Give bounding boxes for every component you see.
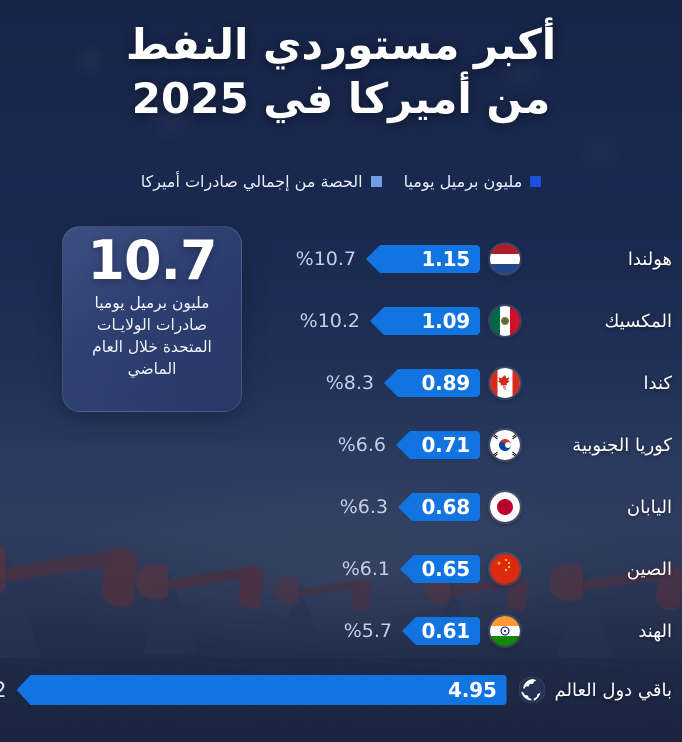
- row-percent-label: %6.6: [338, 434, 386, 456]
- row-label: كندا: [520, 373, 672, 394]
- bar-container: 0.65: [400, 555, 480, 583]
- bar-fill: 0.89: [384, 369, 480, 397]
- row-label: كوريا الجنوبية: [520, 435, 672, 456]
- bar-container: 1.15: [366, 245, 480, 273]
- bar-container: 0.68: [398, 493, 480, 521]
- row-percent-label: %8.3: [326, 372, 374, 394]
- row-percent-label: %6.1: [342, 558, 390, 580]
- infographic-poster: أكبر مستوردي النفط من أميركا في 2025 ملي…: [0, 0, 682, 742]
- page-title: أكبر مستوردي النفط من أميركا في 2025: [0, 18, 682, 126]
- row-label: هولندا: [520, 249, 672, 270]
- bar-value-label: 1.15: [421, 247, 470, 271]
- flag-japan: [490, 492, 520, 522]
- bar-container: 0.61: [402, 617, 480, 645]
- title-line-1: أكبر مستوردي النفط: [0, 18, 682, 72]
- table-row: كوريا الجنوبية0.71%6.6: [0, 414, 682, 476]
- legend-swatch-dark: [530, 176, 541, 187]
- bar-fill: 0.71: [396, 431, 480, 459]
- flag-mexico: [490, 306, 520, 336]
- globe-icon: [517, 675, 547, 705]
- table-row: كندا0.89%8.3: [0, 352, 682, 414]
- bar-fill: 0.68: [398, 493, 480, 521]
- legend-label: الحصة من إجمالي صادرات أميركا: [141, 172, 363, 191]
- chart-legend: مليون برميل يومياالحصة من إجمالي صادرات …: [0, 172, 682, 191]
- table-row: المكسيك1.09%10.2: [0, 290, 682, 352]
- table-row: هولندا1.15%10.7: [0, 228, 682, 290]
- row-label: اليابان: [520, 497, 672, 518]
- bar-value-label: 0.65: [421, 557, 470, 581]
- legend-label: مليون برميل يوميا: [404, 172, 523, 191]
- flag-india: [490, 616, 520, 646]
- table-row: الهند0.61%5.7: [0, 600, 682, 662]
- row-percent-label: %10.2: [300, 310, 360, 332]
- bar-value-label: 4.95: [448, 678, 497, 702]
- row-percent-label: %5.7: [344, 620, 392, 642]
- bar-value-label: 0.71: [421, 433, 470, 457]
- row-percent-label: %6.3: [340, 496, 388, 518]
- bar-fill: 1.09: [370, 307, 480, 335]
- bar-value-label: 1.09: [421, 309, 470, 333]
- bar-fill: 0.65: [400, 555, 480, 583]
- bar-value-label: 0.68: [421, 495, 470, 519]
- bar-fill: 4.95: [17, 675, 507, 705]
- bar-chart-rows: هولندا1.15%10.7المكسيك1.09%10.2كندا0.89%…: [0, 228, 682, 662]
- row-label: الهند: [520, 621, 672, 642]
- flag-south-korea: [490, 430, 520, 460]
- row-label: باقي دول العالم: [547, 680, 672, 701]
- legend-item-1: الحصة من إجمالي صادرات أميركا: [141, 172, 382, 191]
- title-line-2: من أميركا في 2025: [0, 72, 682, 126]
- flag-canada: [490, 368, 520, 398]
- flag-china: [490, 554, 520, 584]
- bar-container: 0.71: [396, 431, 480, 459]
- bar-container: 4.95: [17, 675, 507, 705]
- table-row: اليابان0.68%6.3: [0, 476, 682, 538]
- bar-fill: 0.61: [402, 617, 480, 645]
- table-row: الصين0.65%6.1: [0, 538, 682, 600]
- bar-container: 0.89: [384, 369, 480, 397]
- legend-swatch-light: [371, 176, 382, 187]
- bar-container: 1.09: [370, 307, 480, 335]
- bar-fill: 1.15: [366, 245, 480, 273]
- row-percent-label: %10.7: [296, 248, 356, 270]
- row-percent-label: %46.2: [0, 678, 7, 702]
- flag-netherlands: [490, 244, 520, 274]
- bar-value-label: 0.89: [421, 371, 470, 395]
- row-label: الصين: [520, 559, 672, 580]
- table-row-rest-of-world: باقي دول العالم 4.95 %46.2: [0, 664, 682, 716]
- bar-value-label: 0.61: [421, 619, 470, 643]
- legend-item-0: مليون برميل يوميا: [404, 172, 542, 191]
- row-label: المكسيك: [520, 311, 672, 332]
